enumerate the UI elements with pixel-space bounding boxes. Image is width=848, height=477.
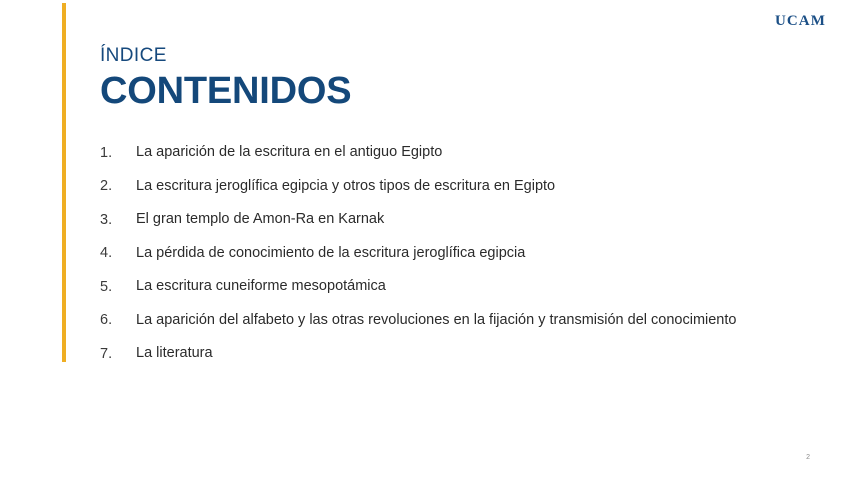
toc-item[interactable]: 7.La literatura — [100, 343, 760, 364]
toc-item-number: 1. — [100, 142, 136, 163]
toc-item[interactable]: 5.La escritura cuneiforme mesopotámica — [100, 276, 760, 297]
toc-item-label: La escritura cuneiforme mesopotámica — [136, 276, 760, 296]
toc-item[interactable]: 6.La aparición del alfabeto y las otras … — [100, 310, 760, 331]
toc-item-number: 6. — [100, 310, 136, 331]
heading-block: ÍNDICE CONTENIDOS — [100, 46, 780, 112]
toc-item-number: 3. — [100, 209, 136, 230]
eyebrow-label: ÍNDICE — [100, 46, 780, 67]
toc-item-label: La escritura jeroglífica egipcia y otros… — [136, 176, 760, 196]
table-of-contents-list: 1.La aparición de la escritura en el ant… — [100, 142, 760, 377]
slide-canvas: UCAM ÍNDICE CONTENIDOS 1.La aparición de… — [0, 0, 848, 477]
gold-accent-bar — [62, 3, 66, 362]
toc-item[interactable]: 4.La pérdida de conocimiento de la escri… — [100, 243, 760, 264]
toc-item[interactable]: 1.La aparición de la escritura en el ant… — [100, 142, 760, 163]
toc-item-label: La literatura — [136, 343, 760, 363]
toc-item-number: 4. — [100, 243, 136, 264]
toc-item-number: 7. — [100, 343, 136, 364]
page-number: 2 — [806, 454, 810, 461]
toc-item-label: El gran templo de Amon-Ra en Karnak — [136, 209, 760, 229]
toc-item-number: 5. — [100, 276, 136, 297]
toc-item[interactable]: 2.La escritura jeroglífica egipcia y otr… — [100, 176, 760, 197]
page-title: CONTENIDOS — [100, 71, 780, 112]
toc-item-label: La aparición del alfabeto y las otras re… — [136, 310, 760, 330]
toc-item-label: La pérdida de conocimiento de la escritu… — [136, 243, 760, 263]
ucam-logo: UCAM — [775, 14, 826, 29]
toc-item[interactable]: 3.El gran templo de Amon-Ra en Karnak — [100, 209, 760, 230]
toc-item-number: 2. — [100, 176, 136, 197]
toc-item-label: La aparición de la escritura en el antig… — [136, 142, 760, 162]
